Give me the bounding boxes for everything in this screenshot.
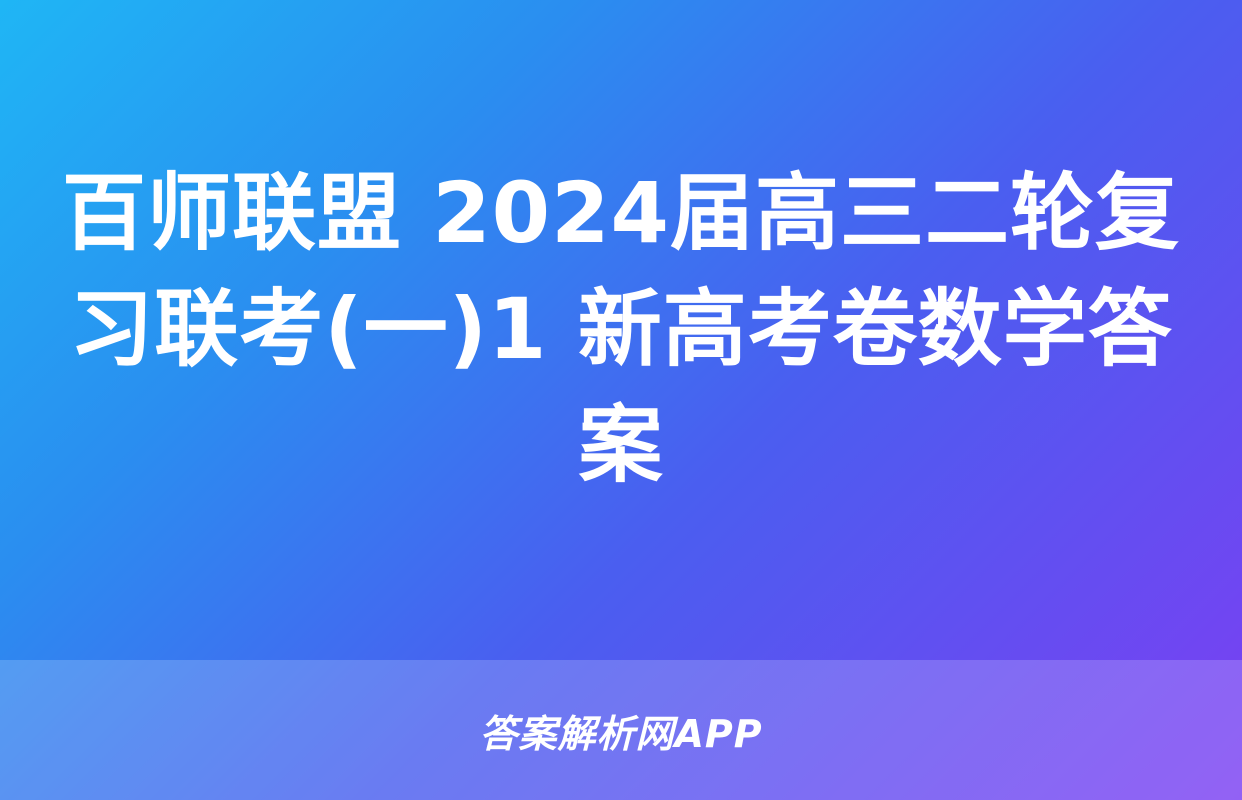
footer-bar: 答案解析网APP [0,660,1242,800]
app-brand-label: 答案解析网APP [479,703,762,758]
page-title: 百师联盟 2024届高三二轮复习联考(一)1 新高考卷数学答案 [61,156,1181,504]
title-block: 百师联盟 2024届高三二轮复习联考(一)1 新高考卷数学答案 [0,0,1242,660]
promo-banner: 百师联盟 2024届高三二轮复习联考(一)1 新高考卷数学答案 答案解析网APP [0,0,1242,800]
